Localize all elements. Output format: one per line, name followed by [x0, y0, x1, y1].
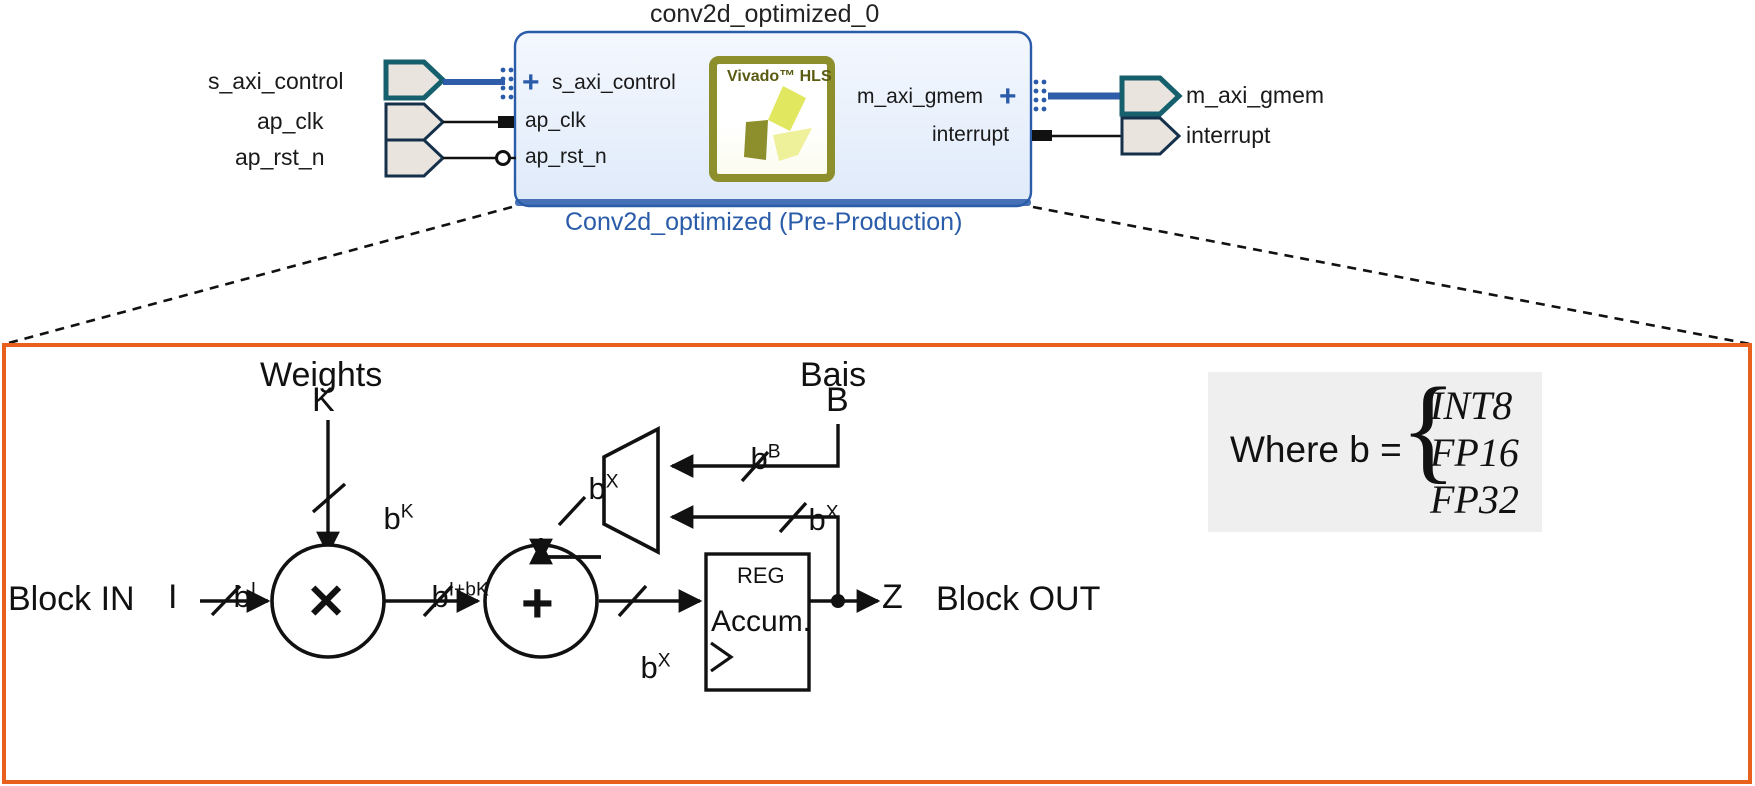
bus-width-mux-out-exp: X [606, 472, 619, 493]
external-label-interrupt: interrupt [1186, 122, 1270, 149]
external-label-ap-clk: ap_clk [257, 108, 323, 135]
multiplier-symbol: ✕ [306, 574, 346, 630]
where-option-fp16: FP16 [1430, 429, 1519, 476]
bus-width-input-exp: I [251, 580, 256, 601]
bus-width-accum-in-base: b [640, 650, 657, 685]
block-out-label: Block OUT [936, 580, 1100, 619]
ip-pin-interrupt[interactable]: interrupt [932, 123, 1009, 147]
bus-width-feedback-exp: X [826, 503, 839, 524]
right-bundle-dots-icon [1034, 80, 1047, 112]
external-port-ap-rst-n[interactable] [386, 140, 516, 176]
bus-width-feedback: bX [774, 466, 839, 574]
output-signal-label: Z [882, 578, 903, 617]
where-box-label: Where b = [1230, 429, 1402, 471]
weights-signal-label: K [312, 381, 335, 420]
ip-pin-s-axi-control[interactable]: s_axi_control [552, 71, 676, 95]
bus-width-accum-in: bX [606, 614, 671, 722]
reg-body-label: Accum. [711, 605, 811, 639]
ip-block-footer: Conv2d_optimized (Pre-Production) [565, 208, 962, 237]
external-port-interrupt[interactable] [1032, 118, 1179, 154]
bus-width-weights-base: b [383, 501, 400, 536]
ip-block-title: conv2d_optimized_0 [650, 0, 879, 29]
ip-pin-ap-rst-n[interactable]: ap_rst_n [525, 145, 607, 169]
bus-width-mux-out-base: b [588, 471, 605, 506]
bus-width-product-exp2: K [476, 580, 489, 601]
figure-root: conv2d_optimized_0 Conv2d_optimized (Pre… [0, 0, 1755, 786]
where-option-fp32: FP32 [1430, 476, 1519, 523]
input-signal-label: I [168, 578, 177, 617]
external-label-ap-rst-n: ap_rst_n [235, 144, 325, 171]
bus-width-feedback-base: b [808, 502, 825, 537]
bais-signal-label: B [826, 381, 849, 420]
bus-width-mux-out: bX [554, 435, 619, 543]
bus-width-bias-exp: B [768, 442, 781, 463]
where-box: Where b = { INT8 FP16 FP32 [1208, 372, 1542, 532]
external-port-m-axi-gmem[interactable] [1048, 78, 1179, 114]
bus-width-bias-base: b [750, 441, 767, 476]
external-label-s-axi-control: s_axi_control [208, 68, 344, 95]
vivado-hls-logo-label: Vivado™ HLS [727, 68, 832, 86]
where-option-int8: INT8 [1430, 382, 1512, 429]
bus-width-weights-exp: K [401, 502, 414, 523]
adder-symbol: + [521, 570, 554, 635]
ip-pin-ap-clk[interactable]: ap_clk [525, 109, 586, 133]
bus-width-input: bI [199, 543, 256, 651]
expand-plus-icon-s-axi-control[interactable]: + [522, 66, 540, 100]
expand-plus-icon-m-axi-gmem[interactable]: + [999, 80, 1017, 114]
bus-width-product-base: b [431, 579, 448, 614]
bus-width-bias: bB [716, 405, 781, 513]
external-label-m-axi-gmem: m_axi_gmem [1186, 82, 1324, 109]
ip-pin-m-axi-gmem[interactable]: m_axi_gmem [857, 85, 983, 109]
block-in-label: Block IN [8, 580, 135, 619]
external-port-s-axi-control[interactable] [386, 62, 505, 98]
bus-width-product: bI+bK [397, 543, 489, 651]
bus-width-input-base: b [233, 579, 250, 614]
bus-width-product-mid: I+b [449, 580, 476, 601]
external-port-ap-clk[interactable] [386, 104, 514, 140]
bus-width-accum-in-exp: X [658, 651, 671, 672]
